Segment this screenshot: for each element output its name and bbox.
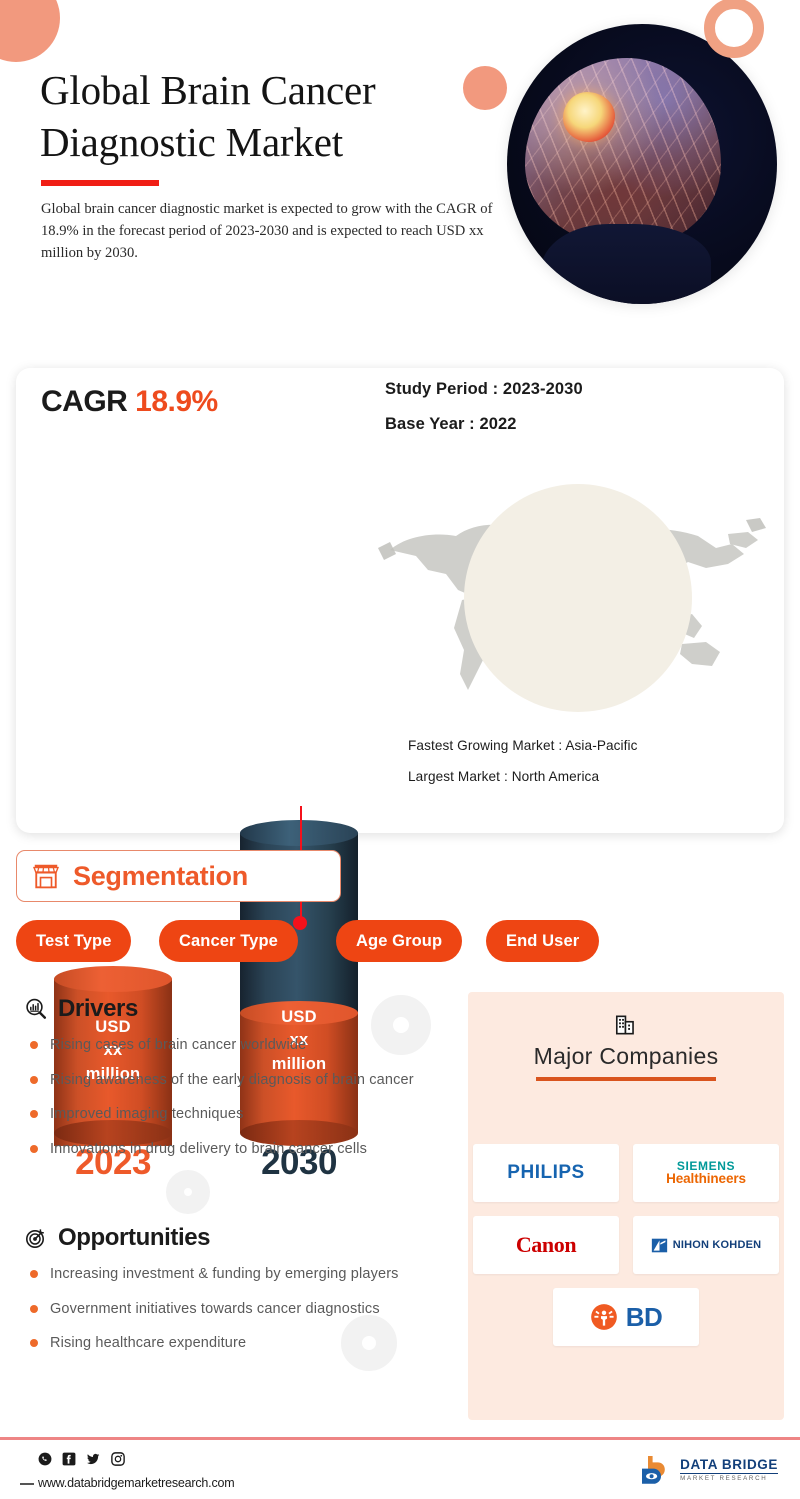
siemens-logo-bottom: Healthineers [666,1172,746,1186]
logo-row: PHILIPS SIEMENS Healthineers [468,1144,784,1202]
pill-end-user[interactable]: End User [486,920,599,962]
list-item: Rising awareness of the early diagnosis … [24,1070,454,1091]
list-item: Innovations in drug delivery to brain ca… [24,1139,454,1160]
data-bridge-logo: DATA BRIDGE MARKET RESEARCH [639,1454,778,1486]
cagr-panel: CAGR 18.9% Study Period : 2023-2030 Base… [16,368,784,833]
bar-2023-top [54,966,172,992]
instagram-icon[interactable] [111,1452,125,1466]
bd-logo: BD [590,1302,663,1333]
logo-card-siemens[interactable]: SIEMENS Healthineers [633,1144,779,1202]
building-icon [613,1012,639,1038]
major-companies-title: Major Companies [468,1043,784,1070]
largest-market: Largest Market : North America [408,769,638,784]
segmentation-pills: Test Type Cancer Type Age Group End User [16,920,784,964]
drivers-title: Drivers [58,995,138,1023]
data-bridge-title: DATA BRIDGE [680,1458,778,1472]
world-map [376,478,776,718]
opportunities-section: Opportunities Increasing investment & fu… [24,1224,444,1368]
market-notes: Fastest Growing Market : Asia-Pacific La… [408,738,638,800]
list-item: Government initiatives towards cancer di… [24,1299,444,1320]
logo-row: BD [468,1288,784,1346]
pill-age-group[interactable]: Age Group [336,920,462,962]
twitter-icon[interactable] [86,1452,101,1466]
url-dash [20,1483,34,1485]
tumor-icon [563,92,615,142]
opportunities-title: Opportunities [58,1224,210,1252]
bar-chart: USD xx million USD xx million 2023 2030 [16,368,376,833]
social-links [38,1452,125,1466]
segmentation-header: Segmentation [16,850,341,902]
logo-card-canon[interactable]: Canon [473,1216,619,1274]
pill-test-type[interactable]: Test Type [16,920,131,962]
list-item: Rising healthcare expenditure [24,1333,444,1354]
insights-column: Drivers Rising cases of brain cancer wor… [16,995,461,1420]
study-period: Study Period : 2023-2030 [385,380,583,399]
facebook-icon[interactable] [62,1452,76,1466]
logo-row: Canon NIHON KOHDEN [468,1216,784,1274]
data-bridge-rule [680,1473,778,1474]
data-bridge-wordmark: DATA BRIDGE MARKET RESEARCH [680,1458,778,1483]
infographic-page: Global Brain Cancer Diagnostic Market Gl… [0,0,800,1499]
list-item: Rising cases of brain cancer worldwide [24,1035,454,1056]
page-subtitle: Global brain cancer diagnostic market is… [41,198,496,265]
siemens-logo: SIEMENS Healthineers [666,1160,746,1187]
major-companies-header: Major Companies [468,1012,784,1081]
market-meta: Study Period : 2023-2030 Base Year : 202… [385,380,583,450]
logo-card-philips[interactable]: PHILIPS [473,1144,619,1202]
segmentation-title: Segmentation [73,861,248,892]
major-companies-panel: Major Companies PHILIPS SIEMENS Healthin… [468,992,784,1420]
footer: www.databridgemarketresearch.com DATA BR… [0,1440,800,1499]
opportunities-header: Opportunities [24,1224,444,1252]
shop-icon [31,861,61,891]
header-section: Global Brain Cancer Diagnostic Market Gl… [0,0,800,330]
magnifier-chart-icon [24,997,48,1021]
map-backdrop [464,484,692,712]
drivers-section: Drivers Rising cases of brain cancer wor… [24,995,454,1173]
nihon-kohden-text: NIHON KOHDEN [673,1239,762,1251]
list-item: Increasing investment & funding by emerg… [24,1264,444,1285]
hero-image [507,12,777,312]
page-title: Global Brain Cancer Diagnostic Market [40,64,470,169]
major-companies-underline [536,1077,716,1081]
data-bridge-mark-icon [639,1454,673,1486]
data-bridge-subtitle: MARKET RESEARCH [680,1476,778,1483]
opportunities-list: Increasing investment & funding by emerg… [24,1264,444,1354]
brain-illustration-circle [507,24,777,304]
logo-card-bd[interactable]: BD [553,1288,699,1346]
philips-logo: PHILIPS [507,1162,584,1184]
nihon-kohden-mark-icon [651,1237,668,1254]
company-logo-grid: PHILIPS SIEMENS Healthineers Canon [468,1144,784,1360]
neck-shape [541,224,711,304]
decorative-ring-b [166,1170,210,1214]
drivers-list: Rising cases of brain cancer worldwide R… [24,1035,454,1159]
target-icon [24,1226,48,1250]
website-url[interactable]: www.databridgemarketresearch.com [38,1476,234,1490]
bd-mark-icon [590,1303,618,1331]
drivers-header: Drivers [24,995,454,1023]
canon-logo: Canon [516,1232,576,1258]
bar-2030-top [240,820,358,846]
whatsapp-icon[interactable] [38,1452,52,1466]
brain-veins-icon [525,58,721,248]
nihon-kohden-logo: NIHON KOHDEN [651,1237,762,1254]
decorative-circle-top-left [0,0,60,62]
pill-cancer-type[interactable]: Cancer Type [159,920,298,962]
fastest-growing-market: Fastest Growing Market : Asia-Pacific [408,738,638,753]
base-year: Base Year : 2022 [385,415,583,434]
title-underline [41,180,159,186]
bd-text: BD [626,1302,663,1333]
logo-card-nihon-kohden[interactable]: NIHON KOHDEN [633,1216,779,1274]
list-item: Improved imaging techniques [24,1104,454,1125]
